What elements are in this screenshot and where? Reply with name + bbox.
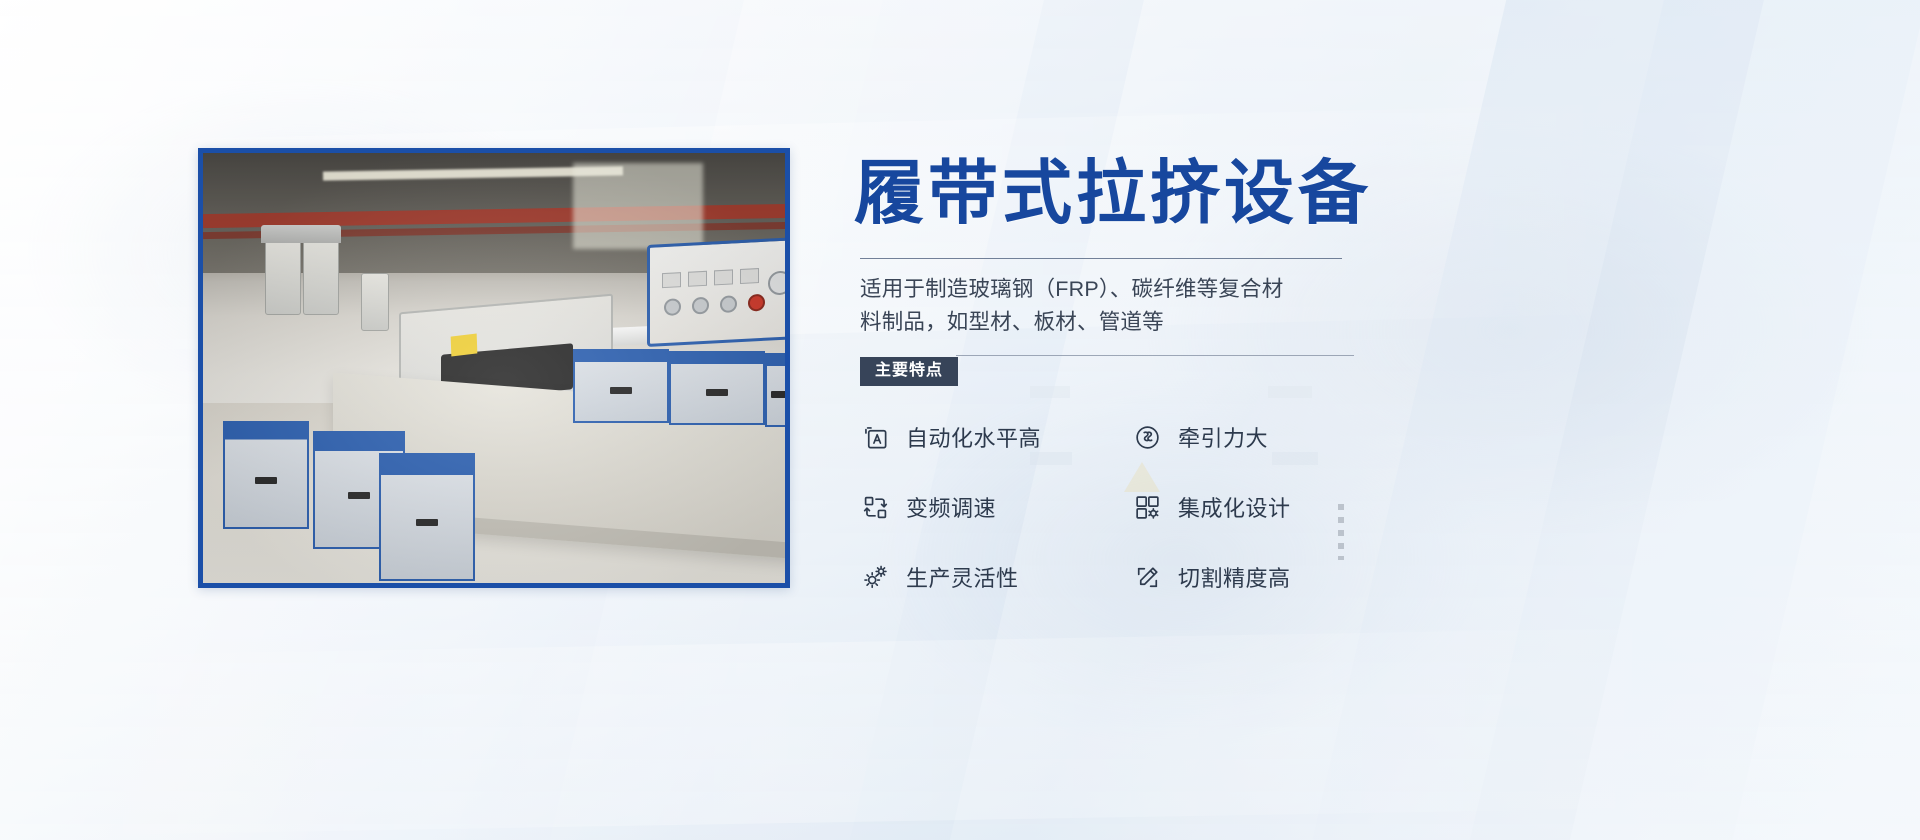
feature-label: 牵引力大 xyxy=(1178,421,1268,453)
title-divider xyxy=(860,258,1342,259)
photo-vignette xyxy=(203,153,785,583)
feature-item-cutting-precision: 切割精度高 xyxy=(1132,561,1340,593)
feature-label: 自动化水平高 xyxy=(906,421,1041,453)
status-badge: 主要特点 xyxy=(860,357,958,386)
gears-icon xyxy=(860,562,890,592)
decor-light-streak-bottom xyxy=(0,623,1920,836)
integrated-design-icon xyxy=(1132,492,1162,522)
badge-divider xyxy=(956,355,1354,356)
automation-icon xyxy=(860,422,890,452)
product-photo-frame xyxy=(198,148,790,588)
feature-item-automation: 自动化水平高 xyxy=(860,421,1132,453)
subtitle-line-2: 料制品，如型材、板材、管道等 xyxy=(860,310,1164,334)
page-subtitle: 适用于制造玻璃钢（FRP）、碳纤维等复合材 料制品，如型材、板材、管道等 xyxy=(860,273,1346,339)
features-heading-row: 主要特点 xyxy=(860,357,1354,387)
banner-content: 履带式拉挤设备 适用于制造玻璃钢（FRP）、碳纤维等复合材 料制品，如型材、板材… xyxy=(854,150,1354,593)
feature-grid: 自动化水平高 牵引力大 xyxy=(860,421,1340,593)
feature-label: 集成化设计 xyxy=(1178,491,1291,523)
feature-item-frequency-speed: 变频调速 xyxy=(860,491,1132,523)
feature-label: 变频调速 xyxy=(906,491,996,523)
feature-label: 生产灵活性 xyxy=(906,561,1019,593)
product-banner: 履带式拉挤设备 适用于制造玻璃钢（FRP）、碳纤维等复合材 料制品，如型材、板材… xyxy=(0,0,1920,840)
traction-icon xyxy=(1132,422,1162,452)
cutting-precision-icon xyxy=(1132,562,1162,592)
subtitle-line-1: 适用于制造玻璃钢（FRP）、碳纤维等复合材 xyxy=(860,277,1283,301)
page-title: 履带式拉挤设备 xyxy=(854,150,1354,236)
feature-label: 切割精度高 xyxy=(1178,561,1291,593)
feature-item-traction: 牵引力大 xyxy=(1132,421,1340,453)
product-photo xyxy=(203,153,785,583)
frequency-speed-icon xyxy=(860,492,890,522)
feature-item-production-flexibility: 生产灵活性 xyxy=(860,561,1132,593)
feature-item-integrated-design: 集成化设计 xyxy=(1132,491,1340,523)
